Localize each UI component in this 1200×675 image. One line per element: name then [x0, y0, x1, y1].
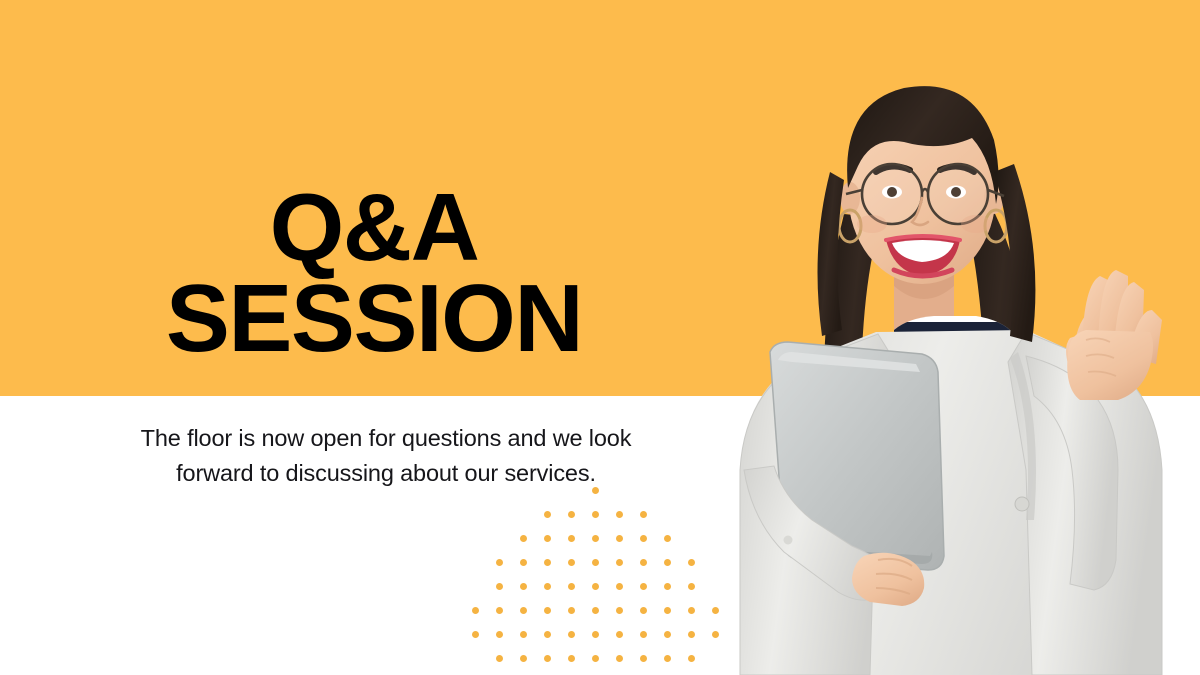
decorative-dot — [664, 655, 671, 662]
subtitle-text: The floor is now open for questions and … — [60, 421, 712, 491]
decorative-dot — [568, 583, 575, 590]
decorative-dot — [544, 631, 551, 638]
decorative-dot — [592, 655, 599, 662]
decorative-dot — [664, 583, 671, 590]
decorative-dot — [640, 655, 647, 662]
decorative-dot — [520, 607, 527, 614]
dot-row — [455, 655, 735, 663]
waving-hand — [1066, 270, 1162, 400]
decorative-dot — [640, 559, 647, 566]
decorative-dot — [496, 655, 503, 662]
decorative-dot — [472, 631, 479, 638]
decorative-dot — [616, 631, 623, 638]
decorative-dot — [664, 631, 671, 638]
decorative-dot — [664, 535, 671, 542]
decorative-dot — [592, 511, 599, 518]
dot-row — [455, 487, 735, 495]
decorative-dot — [568, 559, 575, 566]
decorative-dot — [664, 607, 671, 614]
decorative-dot — [520, 655, 527, 662]
decorative-dot — [592, 607, 599, 614]
decorative-dot — [568, 511, 575, 518]
decorative-dot — [544, 607, 551, 614]
decorative-dot — [568, 631, 575, 638]
decorative-dot — [568, 535, 575, 542]
decorative-dot — [640, 631, 647, 638]
decorative-dot — [616, 583, 623, 590]
page-title: Q&A SESSION — [40, 182, 708, 364]
decorative-dot — [544, 559, 551, 566]
decorative-dot — [520, 559, 527, 566]
decorative-dot — [688, 559, 695, 566]
decorative-dot — [496, 583, 503, 590]
decorative-dot — [544, 655, 551, 662]
dot-row — [455, 631, 735, 639]
decorative-dot — [616, 655, 623, 662]
decorative-dot — [520, 583, 527, 590]
subtitle-line-two: forward to discussing about our services… — [60, 456, 712, 491]
decorative-dot — [592, 631, 599, 638]
decorative-dot — [688, 583, 695, 590]
presenter-photo — [726, 0, 1200, 675]
decorative-dot — [592, 559, 599, 566]
right-cheek — [961, 215, 991, 233]
left-cheek — [857, 215, 887, 233]
dot-row — [455, 583, 735, 591]
decorative-dot — [496, 631, 503, 638]
decorative-dot — [616, 511, 623, 518]
subtitle-line-one: The floor is now open for questions and … — [60, 421, 712, 456]
dot-pattern-decoration — [455, 487, 735, 675]
decorative-dot — [640, 535, 647, 542]
decorative-dot — [592, 583, 599, 590]
blazer-button — [1015, 497, 1029, 511]
decorative-dot — [616, 535, 623, 542]
decorative-dot — [592, 535, 599, 542]
decorative-dot — [496, 607, 503, 614]
dot-row — [455, 607, 735, 615]
title-line-two: SESSION — [40, 273, 708, 364]
decorative-dot — [616, 607, 623, 614]
dot-row — [455, 511, 735, 519]
decorative-dot — [544, 583, 551, 590]
dot-row — [455, 559, 735, 567]
dot-row — [455, 535, 735, 543]
decorative-dot — [568, 655, 575, 662]
decorative-dot — [640, 583, 647, 590]
decorative-dot — [520, 535, 527, 542]
decorative-dot — [520, 631, 527, 638]
decorative-dot — [688, 631, 695, 638]
decorative-dot — [688, 607, 695, 614]
decorative-dot — [688, 655, 695, 662]
decorative-dot — [712, 607, 719, 614]
decorative-dot — [712, 631, 719, 638]
decorative-dot — [544, 535, 551, 542]
decorative-dot — [664, 559, 671, 566]
decorative-dot — [544, 511, 551, 518]
sleeve-cuff-button — [784, 536, 793, 545]
decorative-dot — [592, 487, 599, 494]
decorative-dot — [640, 607, 647, 614]
title-line-one: Q&A — [40, 182, 708, 273]
slide-canvas: Q&A SESSION The floor is now open for qu… — [0, 0, 1200, 675]
decorative-dot — [496, 559, 503, 566]
decorative-dot — [472, 607, 479, 614]
decorative-dot — [640, 511, 647, 518]
decorative-dot — [616, 559, 623, 566]
decorative-dot — [568, 607, 575, 614]
